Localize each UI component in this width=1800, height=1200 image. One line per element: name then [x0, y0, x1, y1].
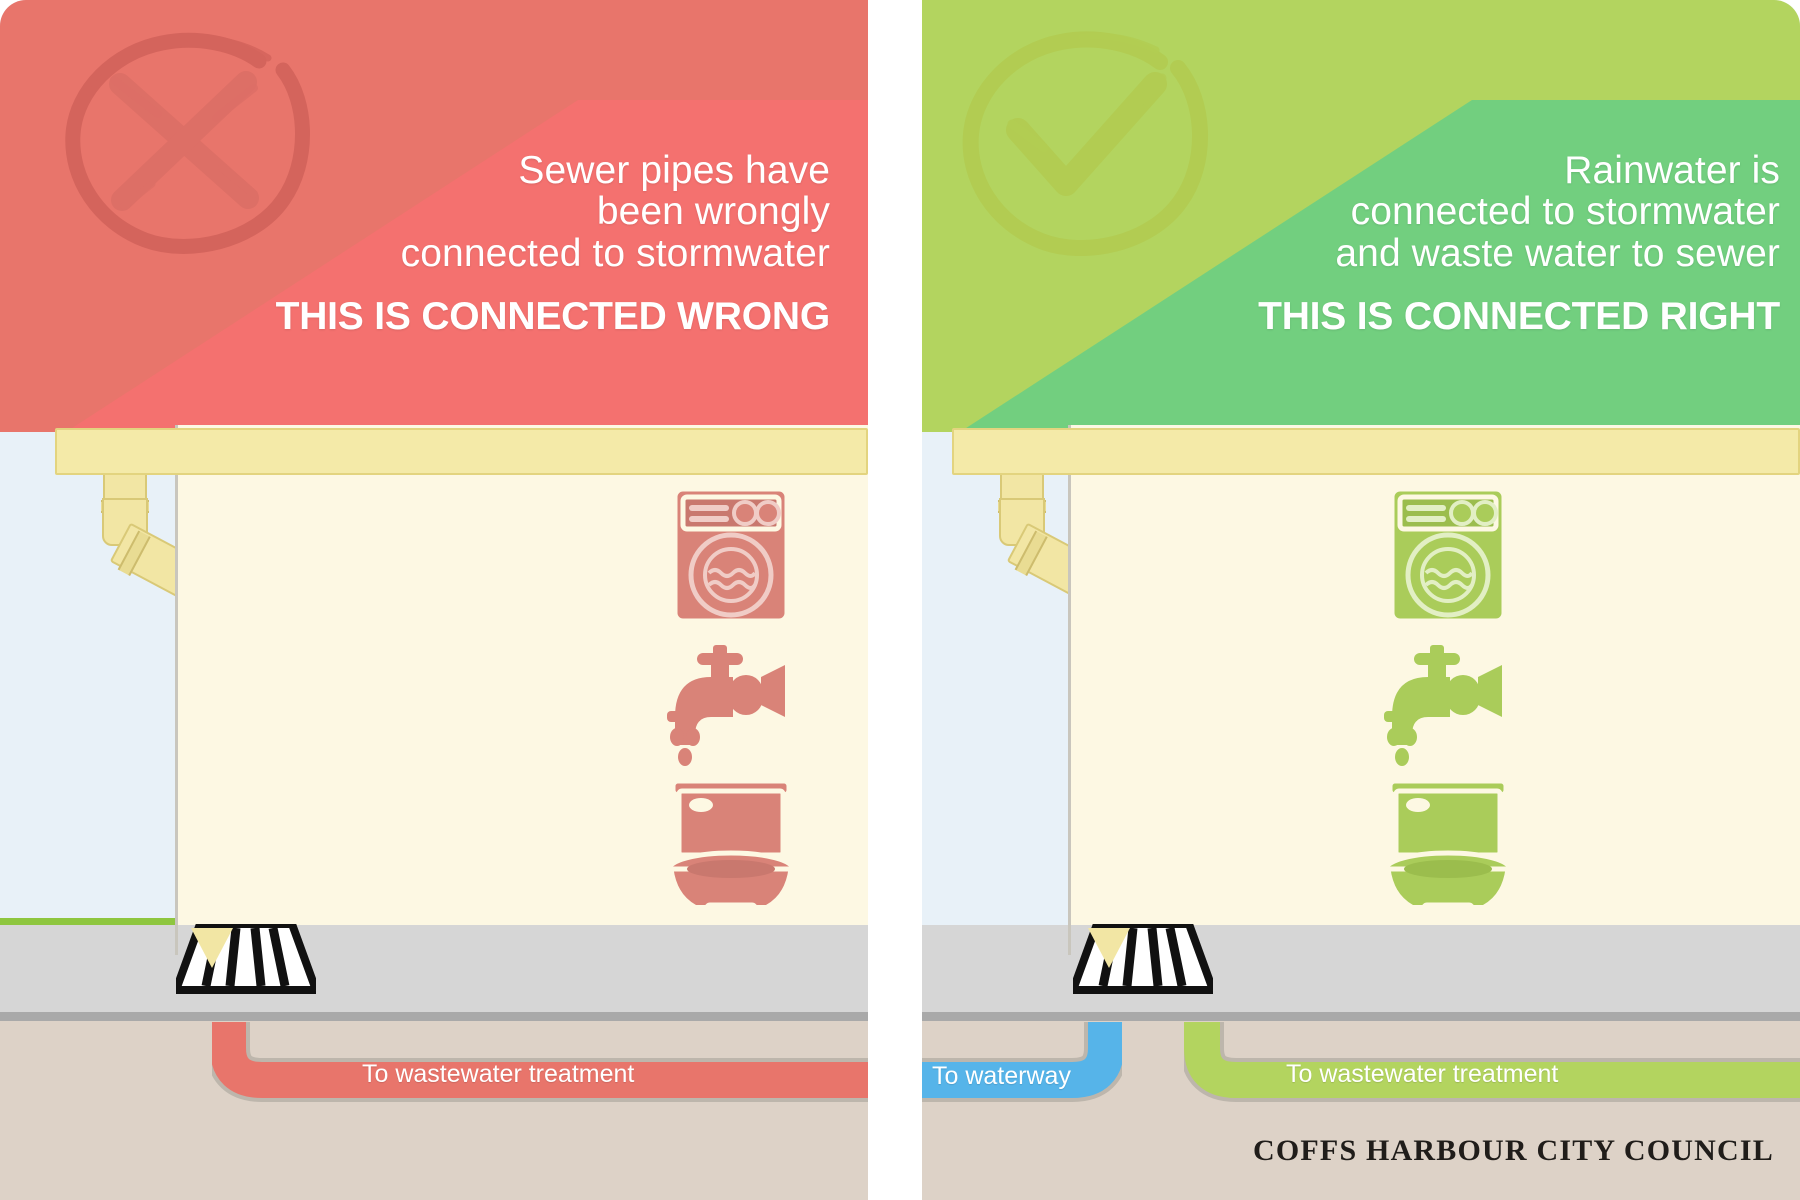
- underground-pipe-label: To wastewater treatment: [362, 1060, 634, 1089]
- appliance-icon-stack: [1372, 485, 1522, 905]
- cistern-highlight: [1406, 798, 1430, 812]
- cistern-highlight: [689, 798, 713, 812]
- headline-line-3: and waste water to sewer: [1172, 233, 1780, 274]
- headline-line-2: connected to stormwater: [1172, 191, 1780, 232]
- bowl-inner: [687, 860, 775, 878]
- toilet-icon: [669, 781, 793, 905]
- bowl-inner: [1404, 860, 1492, 878]
- pavement-band: [0, 925, 868, 1020]
- tick-in-circle-icon: [940, 22, 1230, 260]
- appliance-icon-stack: [655, 485, 805, 905]
- tap-icon: [1384, 645, 1502, 766]
- council-wordmark: COFFS HARBOUR CITY COUNCIL: [1253, 1134, 1774, 1168]
- kerb-line: [922, 1012, 1800, 1021]
- underground-pipe-label: To waterway: [932, 1062, 1071, 1091]
- headline-right: Rainwater is connected to stormwater and…: [1172, 150, 1780, 337]
- panel-connected-wrong: Sewer pipes have been wrongly connected …: [0, 0, 868, 1200]
- cross-in-circle-icon: [40, 22, 330, 260]
- washing-machine-icon: [675, 489, 787, 621]
- verdict-right: THIS IS CONNECTED RIGHT: [1172, 296, 1780, 337]
- wall-edge-line: [175, 425, 178, 955]
- eaves-fascia: [55, 428, 868, 475]
- underground-pipe-label: To wastewater treatment: [1286, 1060, 1558, 1089]
- verdict-wrong: THIS IS CONNECTED WRONG: [230, 296, 830, 337]
- wall-edge-line: [1068, 425, 1071, 955]
- pavement-band: [922, 925, 1800, 1020]
- grass-strip: [0, 918, 175, 925]
- headline-line-1: Rainwater is: [1172, 150, 1780, 191]
- kerb-line: [0, 1012, 868, 1021]
- toilet-icon: [1386, 781, 1510, 905]
- panel-connected-right: Rainwater is connected to stormwater and…: [922, 0, 1800, 1200]
- eaves-fascia: [952, 428, 1800, 475]
- tap-icon: [667, 645, 785, 766]
- washing-machine-icon: [1392, 489, 1504, 621]
- infographic-canvas: Sewer pipes have been wrongly connected …: [0, 0, 1800, 1200]
